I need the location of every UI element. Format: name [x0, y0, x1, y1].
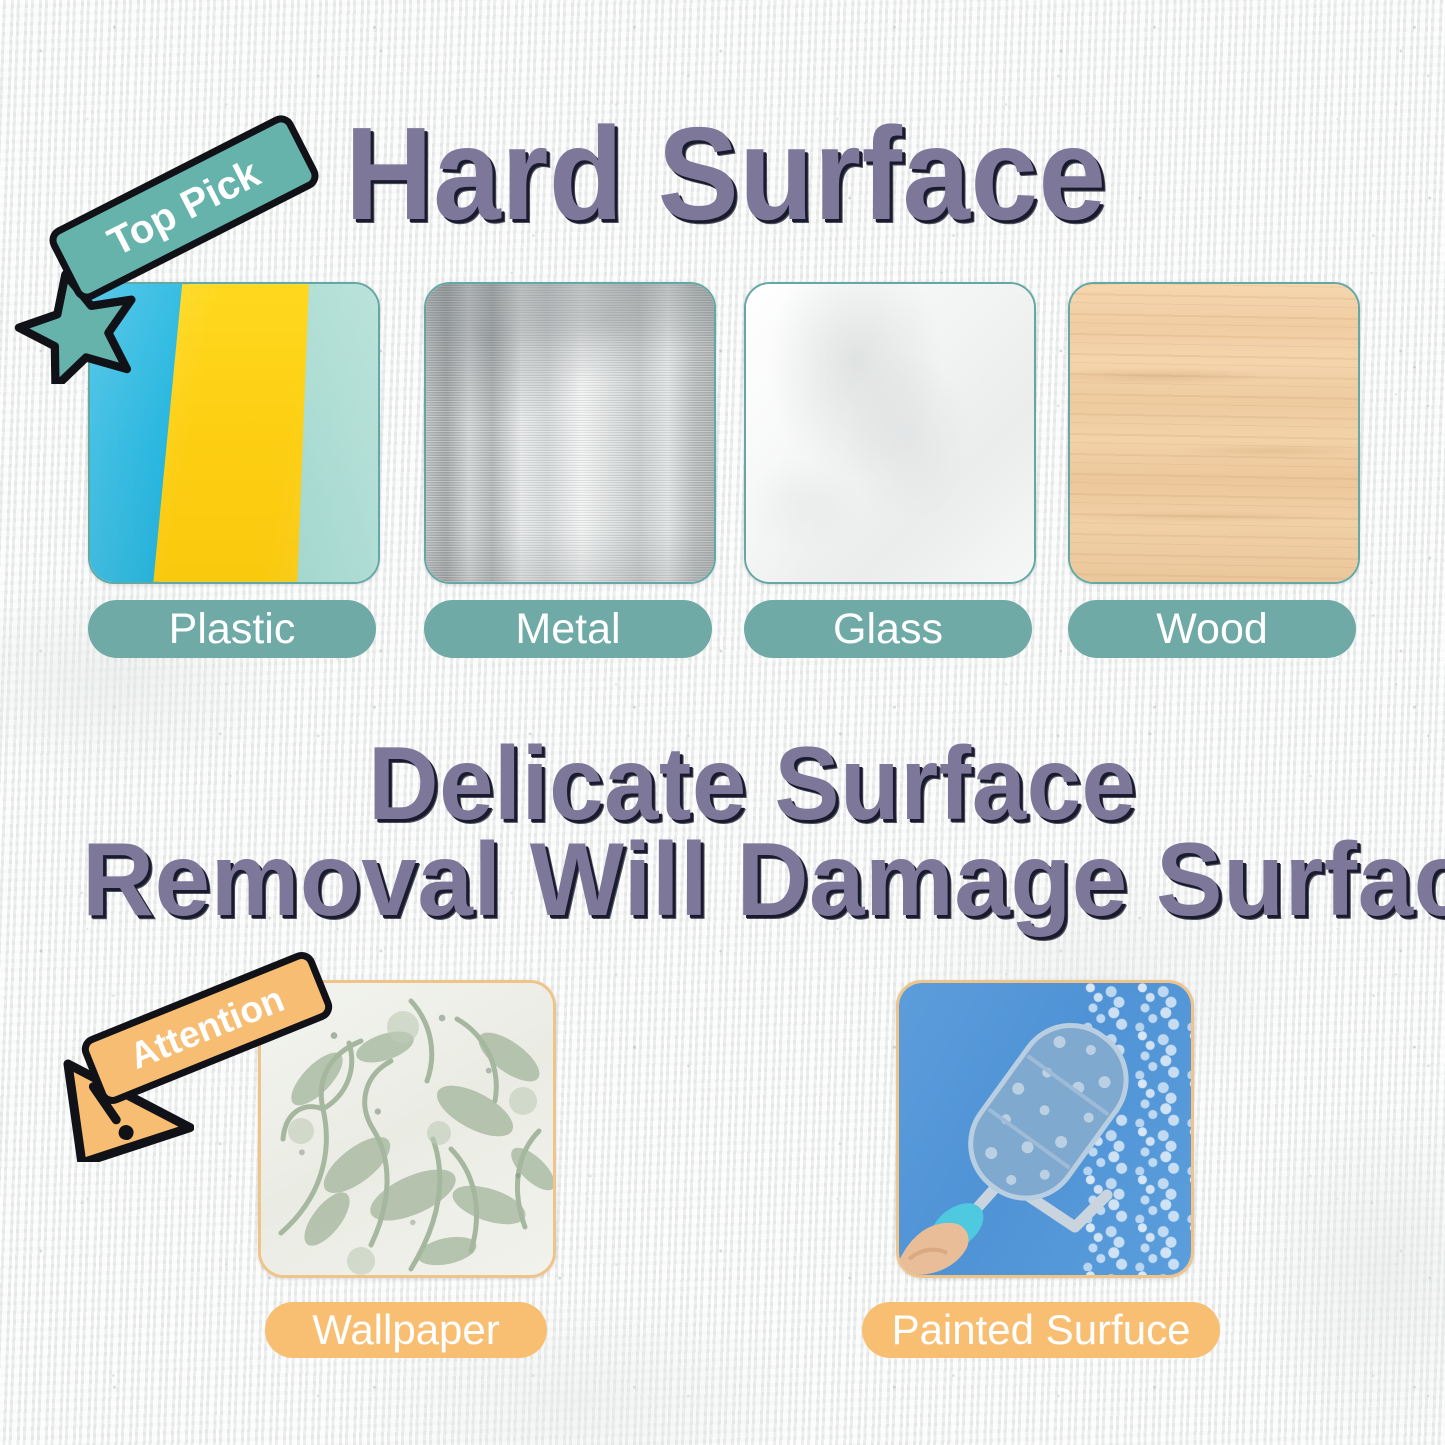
glass-reflection	[746, 284, 1034, 582]
label-wood-text: Wood	[1156, 605, 1268, 654]
label-glass-text: Glass	[833, 605, 943, 654]
metal-shading	[426, 284, 714, 582]
label-plastic: Plastic	[88, 600, 376, 658]
metal-swatch	[424, 282, 716, 584]
label-painted-surface-text: Painted Surfuce	[892, 1306, 1191, 1354]
label-wallpaper: Wallpaper	[265, 1302, 547, 1358]
hard-surface-title: Hard Surface	[345, 108, 1106, 240]
wood-swatch	[1068, 282, 1360, 584]
wood-streaks	[1070, 284, 1358, 582]
label-painted-surface: Painted Surfuce	[862, 1302, 1220, 1358]
label-plastic-text: Plastic	[169, 605, 296, 654]
label-metal-text: Metal	[515, 605, 620, 654]
label-wallpaper-text: Wallpaper	[312, 1306, 500, 1354]
paint-roller-icon	[899, 983, 1191, 1275]
glass-swatch	[744, 282, 1036, 584]
painted-surface-swatch	[896, 980, 1194, 1278]
label-glass: Glass	[744, 600, 1032, 658]
delicate-surface-title-line1: Delicate Surface	[368, 732, 1136, 836]
label-metal: Metal	[424, 600, 712, 658]
delicate-surface-title-line2: Removal Will Damage Surface	[82, 828, 1445, 932]
infographic-root: Hard Surface Plastic Metal Glass Wood	[0, 0, 1445, 1445]
label-wood: Wood	[1068, 600, 1356, 658]
